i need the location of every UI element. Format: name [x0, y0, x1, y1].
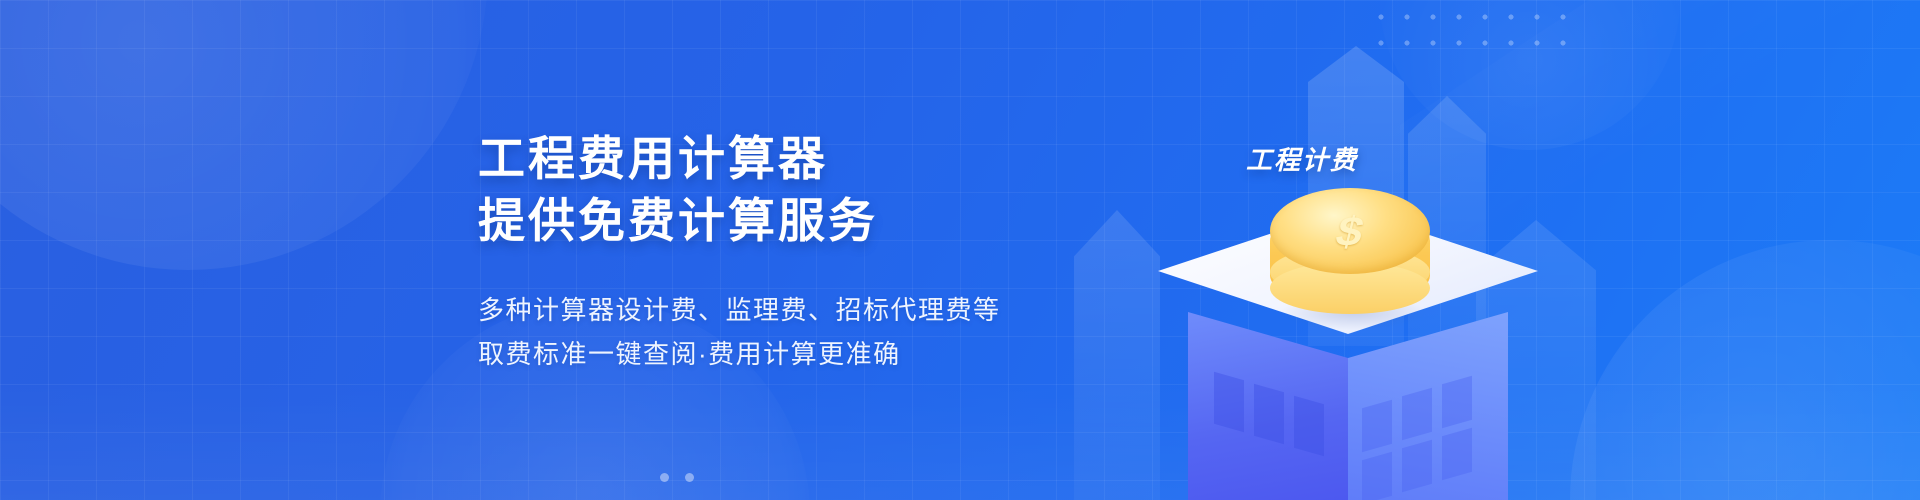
illustration-badge-label: 工程计费	[1246, 140, 1358, 177]
carousel-dot-1[interactable]	[660, 473, 669, 482]
building-window	[1402, 388, 1432, 441]
building-window	[1442, 376, 1472, 429]
building-window	[1442, 428, 1472, 481]
building-window	[1254, 384, 1284, 445]
background-tower-left-icon	[1074, 210, 1160, 500]
hero-banner: 工程费用计算器 提供免费计算服务 多种计算器设计费、监理费、招标代理费等 取费标…	[0, 0, 1920, 500]
decorative-circle-bottom-right	[1570, 240, 1920, 500]
building-window	[1214, 372, 1244, 433]
building-window	[1294, 396, 1324, 457]
carousel-dots	[660, 473, 694, 482]
gold-coin-stack-icon: $	[1270, 188, 1430, 328]
building-window	[1362, 400, 1392, 453]
decorative-circle-top-left	[0, 0, 488, 270]
dollar-sign-icon: $	[1260, 192, 1439, 269]
hero-illustration: 工程计费	[1080, 10, 1600, 500]
building-window	[1402, 440, 1432, 493]
bottom-sheen	[0, 380, 1920, 500]
building-window	[1362, 452, 1392, 500]
carousel-dot-2[interactable]	[685, 473, 694, 482]
